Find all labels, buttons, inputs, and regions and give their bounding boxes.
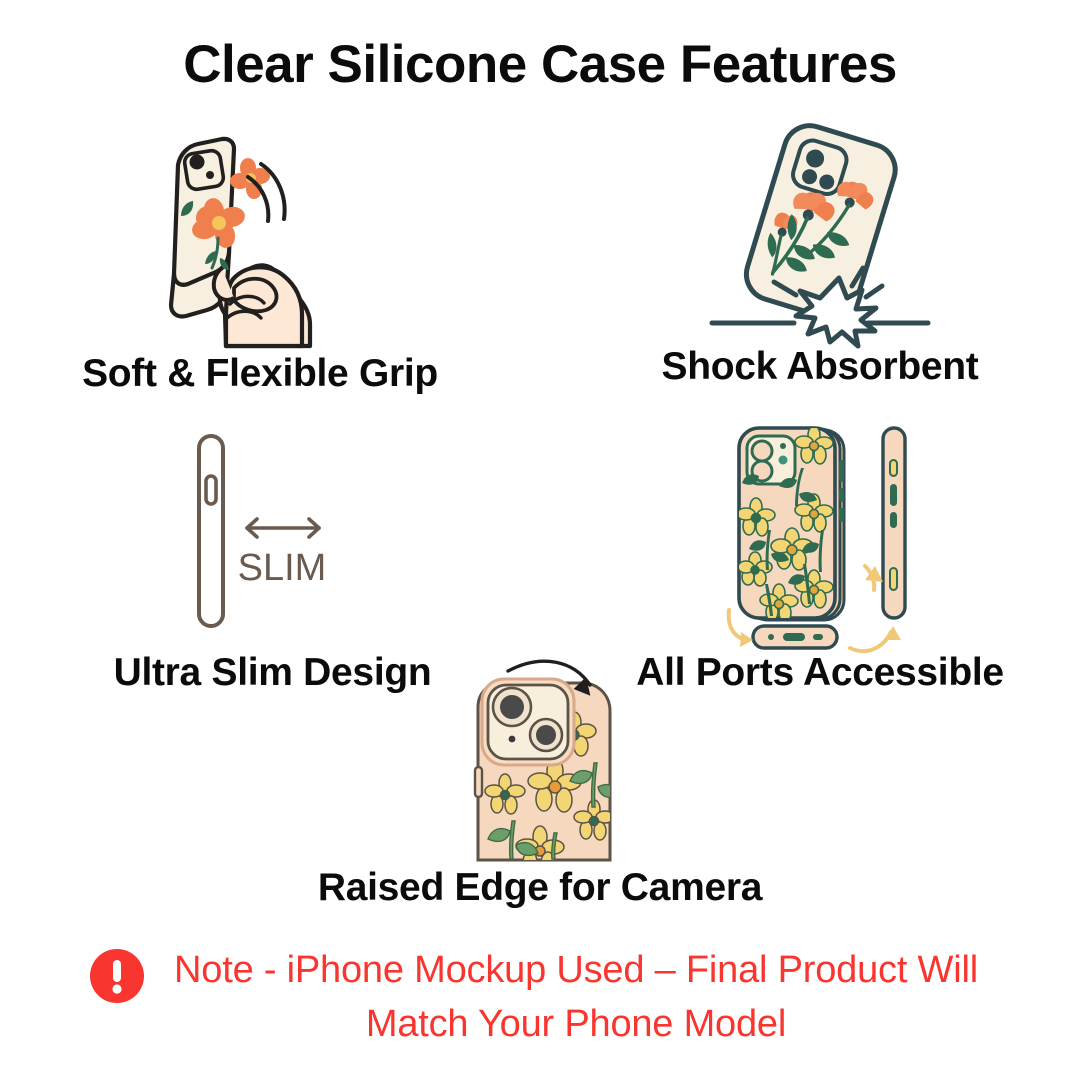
- note-text: Note - iPhone Mockup Used – Final Produc…: [161, 944, 991, 1052]
- phone-side-profile-icon: SLIM: [185, 428, 385, 633]
- page-title: Clear Silicone Case Features: [0, 34, 1080, 95]
- note-banner: Note - iPhone Mockup Used – Final Produc…: [0, 944, 1080, 1052]
- feature-label-shock-absorbent: Shock Absorbent: [560, 345, 1080, 389]
- phone-case-ports-icon: [715, 418, 950, 658]
- phone-case-camera-bump-icon: [450, 655, 665, 860]
- slim-caption: SLIM: [238, 547, 327, 589]
- infographic-page: Clear Silicone Case Features: [0, 0, 1080, 1080]
- feature-label-raised-edge-for-camera: Raised Edge for Camera: [0, 866, 1080, 910]
- phone-case-impact-icon: [700, 118, 940, 346]
- feature-label-soft-flexible-grip: Soft & Flexible Grip: [0, 352, 520, 396]
- hand-flexing-phone-case-icon: [130, 118, 400, 348]
- note-line-1: Note - iPhone Mockup Used – Final Produc…: [161, 944, 991, 998]
- note-line-2: Match Your Phone Model: [161, 998, 991, 1052]
- exclamation-circle-icon: [89, 948, 145, 1004]
